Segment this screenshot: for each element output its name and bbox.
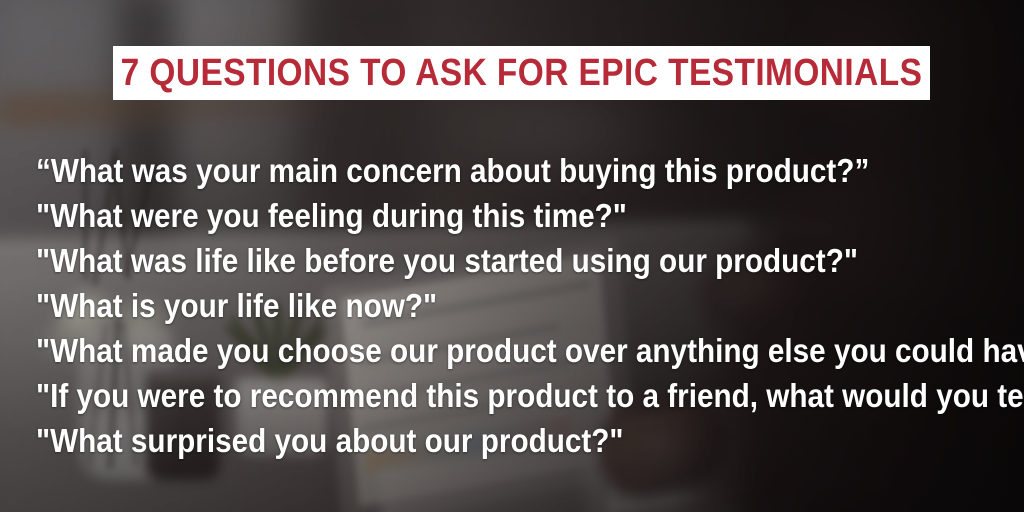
testimonial-questions-poster: 7 QUESTIONS TO ASK FOR EPIC TESTIMONIALS… (0, 0, 1024, 512)
poster-content: 7 QUESTIONS TO ASK FOR EPIC TESTIMONIALS… (0, 0, 1024, 512)
title-banner: 7 QUESTIONS TO ASK FOR EPIC TESTIMONIALS (113, 46, 930, 100)
question-item-4: "What is your life like now?" (36, 283, 900, 328)
question-item-5: "What made you choose our product over a… (36, 328, 900, 373)
page-title: 7 QUESTIONS TO ASK FOR EPIC TESTIMONIALS (121, 54, 923, 92)
question-item-2: "What were you feeling during this time?… (36, 193, 900, 238)
question-item-3: "What was life like before you started u… (36, 238, 900, 283)
questions-list: “What was your main concern about buying… (36, 148, 996, 463)
question-item-7: "What surprised you about our product?" (36, 418, 900, 463)
question-item-6: "If you were to recommend this product t… (36, 373, 900, 418)
question-item-1: “What was your main concern about buying… (36, 148, 900, 193)
